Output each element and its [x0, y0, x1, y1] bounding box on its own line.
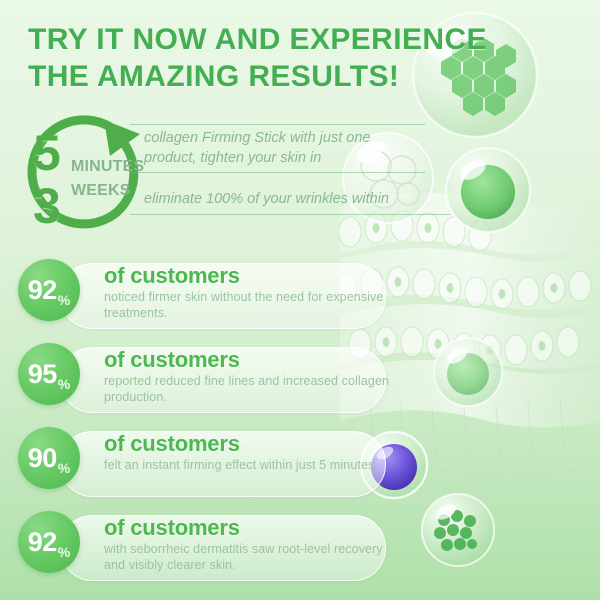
- stat-title: of customers: [104, 432, 394, 455]
- stat-percent-value: 92: [28, 529, 57, 556]
- stat-badge: 90 %: [18, 427, 80, 489]
- timing-description-2: eliminate 100% of your wrinkles within: [130, 186, 450, 214]
- percent-symbol: %: [58, 377, 70, 391]
- stat-title: of customers: [104, 348, 394, 371]
- headline-line-1: TRY IT NOW AND EXPERIENCE: [28, 23, 487, 56]
- percent-symbol: %: [58, 461, 70, 475]
- percent-symbol: %: [58, 545, 70, 559]
- timing-number-weeks: 3: [33, 181, 60, 231]
- headline-line-2: THE AMAZING RESULTS!: [28, 59, 573, 96]
- timing-description-block-1: collagen Firming Stick with just one pro…: [130, 124, 425, 173]
- stat-body: felt an instant firming effect within ju…: [104, 457, 394, 473]
- promo-poster: TRY IT NOW AND EXPERIENCE THE AMAZING RE…: [0, 0, 600, 600]
- stat-row: 92 % of customers with seborrheic dermat…: [18, 511, 384, 583]
- page-title: TRY IT NOW AND EXPERIENCE THE AMAZING RE…: [28, 22, 573, 95]
- stat-row: 92 % of customers noticed firmer skin wi…: [18, 259, 384, 331]
- stat-percent-value: 92: [28, 277, 57, 304]
- stat-body: reported reduced fine lines and increase…: [104, 373, 394, 405]
- divider: [130, 214, 450, 215]
- stat-text: of customers felt an instant firming eff…: [104, 432, 394, 473]
- stat-row: 95 % of customers reported reduced fine …: [18, 343, 384, 415]
- stat-title: of customers: [104, 264, 394, 287]
- stat-text: of customers noticed firmer skin without…: [104, 264, 394, 321]
- stat-row: 90 % of customers felt an instant firmin…: [18, 427, 384, 499]
- stat-text: of customers with seborrheic dermatitis …: [104, 516, 394, 573]
- stat-badge: 92 %: [18, 511, 80, 573]
- divider: [130, 172, 425, 173]
- stat-badge: 92 %: [18, 259, 80, 321]
- stat-badge: 95 %: [18, 343, 80, 405]
- stat-body: with seborrheic dermatitis saw root-leve…: [104, 541, 394, 573]
- green-core-bubble-icon: [422, 494, 494, 566]
- timing-description-block-2: eliminate 100% of your wrinkles within: [130, 186, 450, 215]
- green-core-bubble-icon: [434, 338, 502, 406]
- timing-number-minutes: 5: [33, 128, 60, 178]
- stat-title: of customers: [104, 516, 394, 539]
- green-core-bubble-icon: [446, 148, 530, 232]
- timing-description-1: collagen Firming Stick with just one pro…: [130, 125, 425, 172]
- stat-body: noticed firmer skin without the need for…: [104, 289, 394, 321]
- percent-symbol: %: [58, 293, 70, 307]
- stat-text: of customers reported reduced fine lines…: [104, 348, 394, 405]
- stat-percent-value: 90: [28, 445, 57, 472]
- stat-percent-value: 95: [28, 361, 57, 388]
- timing-unit-weeks: WEEKS: [71, 182, 131, 200]
